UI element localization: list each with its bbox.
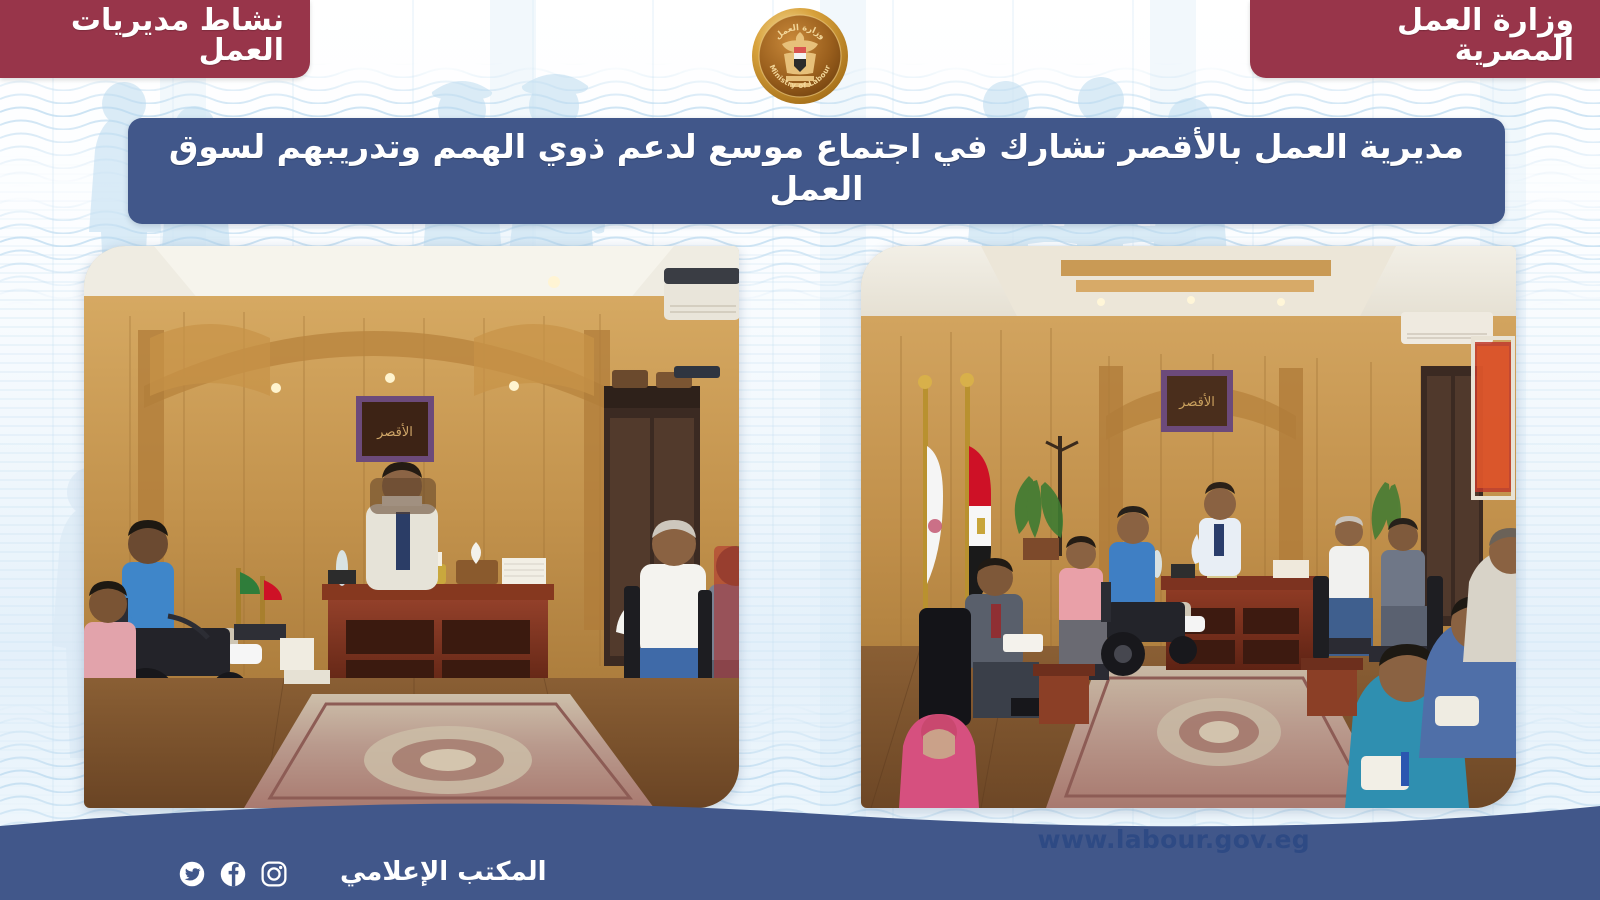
- twitter-icon[interactable]: [178, 860, 206, 888]
- poster-canvas: نشاط مديريات العمل وزارة العمل المصرية: [0, 0, 1600, 900]
- photo-gallery: الأقصر: [0, 246, 1600, 816]
- photo-meeting-office-desk[interactable]: الأقصر: [84, 246, 739, 808]
- instagram-icon[interactable]: [260, 860, 288, 888]
- svg-text:الأقصر: الأقصر: [1178, 393, 1215, 410]
- website-url[interactable]: www.labour.gov.eg: [1037, 825, 1310, 854]
- badge-activity-label: نشاط مديريات العمل: [0, 0, 310, 78]
- social-links: [178, 860, 288, 888]
- ministry-of-labour-logo-icon: وزارة العمل Ministry of Labour: [750, 6, 850, 106]
- svg-text:الأقصر: الأقصر: [376, 423, 413, 440]
- media-office-label: المكتب الإعلامي: [340, 857, 547, 888]
- badge-left-text: نشاط مديريات العمل: [26, 6, 284, 66]
- facebook-icon[interactable]: [219, 860, 247, 888]
- page-title: مديرية العمل بالأقصر تشارك في اجتماع موس…: [158, 126, 1475, 210]
- headline-banner: مديرية العمل بالأقصر تشارك في اجتماع موس…: [128, 118, 1505, 224]
- photo-meeting-wide-room[interactable]: الأقصر: [861, 246, 1516, 808]
- badge-right-text: وزارة العمل المصرية: [1276, 6, 1574, 66]
- badge-ministry-name: وزارة العمل المصرية: [1250, 0, 1600, 78]
